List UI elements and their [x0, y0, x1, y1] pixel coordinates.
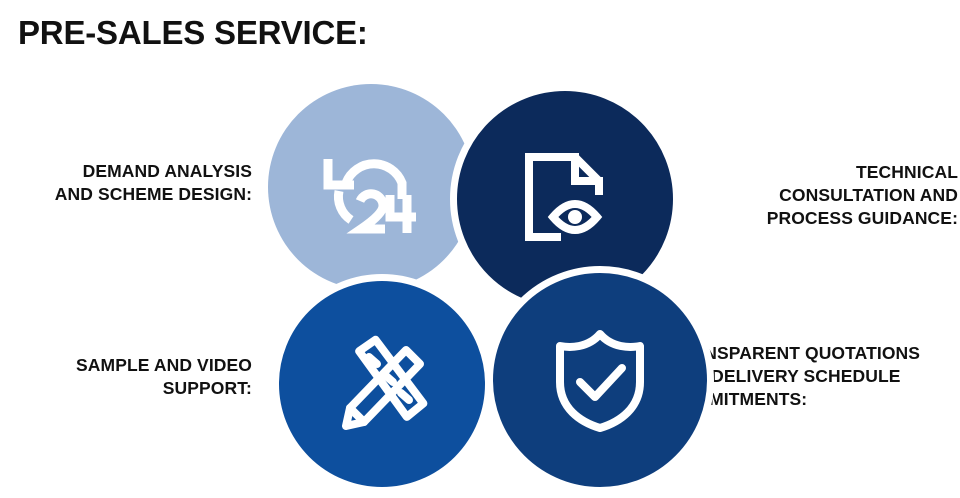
shield-check-icon — [493, 273, 707, 487]
label-technical-consultation: TECHNICAL CONSULTATION AND PROCESS GUIDA… — [728, 161, 958, 229]
circle-demand-analysis[interactable] — [268, 84, 474, 290]
24-hour-rotate-icon — [268, 84, 474, 290]
label-sample-video-support: SAMPLE AND VIDEO SUPPORT: — [0, 354, 252, 400]
pen-ruler-icon — [279, 281, 485, 487]
label-demand-analysis: DEMAND ANALYSIS AND SCHEME DESIGN: — [0, 160, 252, 206]
circle-transparent-quotations[interactable] — [486, 266, 714, 494]
page-title: PRE-SALES SERVICE: — [18, 14, 368, 52]
service-circle-cluster — [268, 84, 672, 484]
circle-sample-video-support[interactable] — [272, 274, 492, 494]
